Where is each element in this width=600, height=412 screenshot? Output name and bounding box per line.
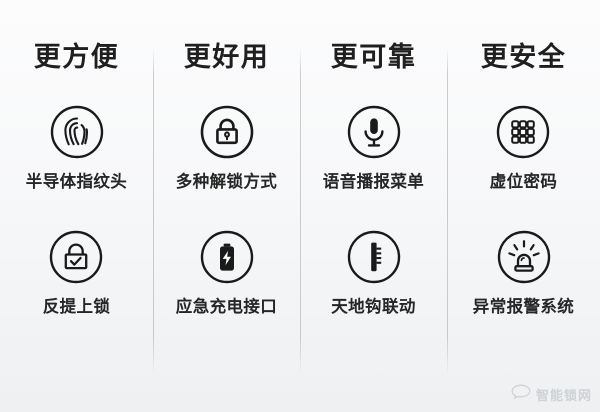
feature-column-3: 更可靠 语音播报菜单 <box>300 0 447 412</box>
latch-bolt-icon <box>345 228 403 286</box>
column-heading: 更安全 <box>481 44 567 71</box>
keypad-grid-icon <box>494 103 552 161</box>
feature-label: 虚位密码 <box>490 174 558 191</box>
feature-label: 语音播报菜单 <box>323 174 424 191</box>
feature-item: 应急充电接口 <box>176 228 277 316</box>
speech-bubble-icon <box>511 384 531 404</box>
feature-column-1: 更方便 半导体指纹头 <box>0 0 153 412</box>
feature-item: 反提上锁 <box>43 228 111 316</box>
feature-label: 反提上锁 <box>43 299 111 316</box>
column-heading: 更方便 <box>34 44 120 71</box>
feature-item: 异常报警系统 <box>473 228 574 316</box>
battery-charge-icon <box>198 228 256 286</box>
column-heading: 更好用 <box>184 44 270 71</box>
column-heading: 更可靠 <box>331 44 417 71</box>
feature-item: 半导体指纹头 <box>26 103 127 191</box>
watermark: 智能锁网 <box>511 384 592 404</box>
feature-item: 语音播报菜单 <box>323 103 424 191</box>
feature-columns: 更方便 半导体指纹头 <box>0 0 600 412</box>
feature-label: 异常报警系统 <box>473 299 574 316</box>
feature-label: 半导体指纹头 <box>26 174 127 191</box>
fingerprint-icon <box>48 103 106 161</box>
feature-column-4: 更安全 <box>447 0 600 412</box>
feature-label: 应急充电接口 <box>176 299 277 316</box>
feature-label: 多种解锁方式 <box>176 174 277 191</box>
alarm-siren-icon <box>495 228 553 286</box>
lock-check-icon <box>47 228 105 286</box>
feature-board: 更方便 半导体指纹头 <box>0 0 600 412</box>
feature-item: 天地钩联动 <box>331 228 416 316</box>
feature-column-2: 更好用 多种解锁方式 <box>153 0 300 412</box>
feature-label: 天地钩联动 <box>331 299 416 316</box>
watermark-text: 智能锁网 <box>536 385 592 404</box>
feature-item: 多种解锁方式 <box>176 103 277 191</box>
microphone-icon <box>345 103 403 161</box>
padlock-icon <box>198 103 256 161</box>
feature-item: 虚位密码 <box>490 103 558 191</box>
